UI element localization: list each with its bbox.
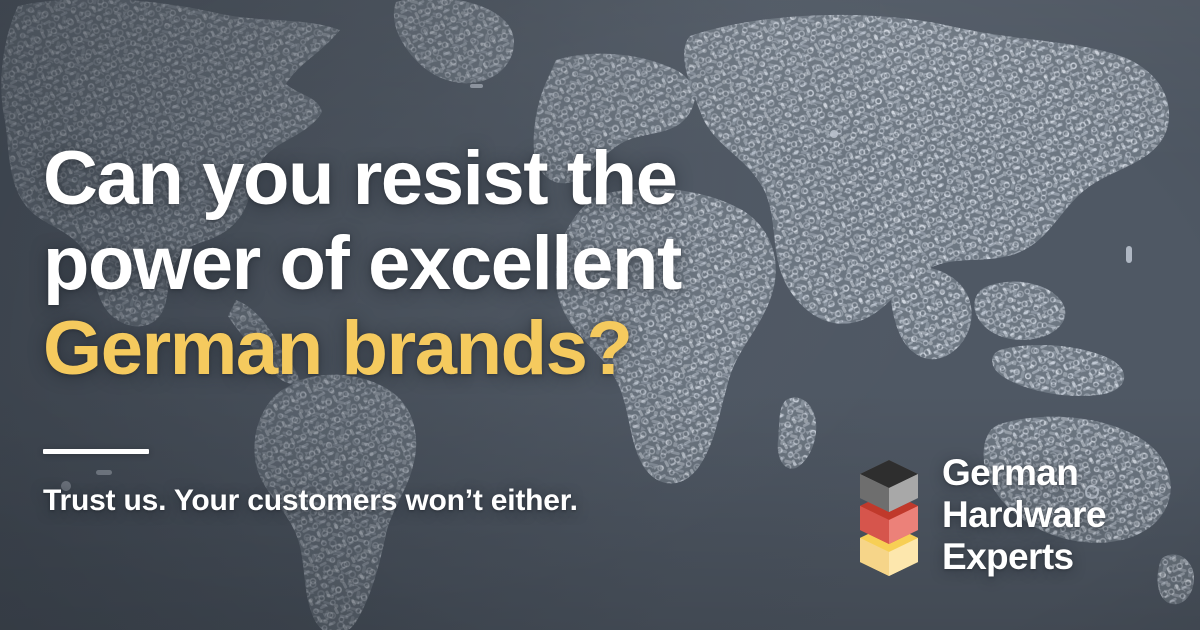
headline-line-3-accent: German brands? [43,306,632,391]
divider-rule [43,449,149,454]
subheadline: Trust us. Your customers won’t either. [43,484,578,518]
promo-banner: Can you resist the power of excellent Ge… [0,0,1200,630]
headline-line-2: power of excellent [43,221,681,306]
headline-line-1: Can you resist the [43,136,677,221]
logo-line-german: German [942,452,1106,494]
logo-line-experts: Experts [942,536,1106,578]
brand-logo[interactable]: German Hardware Experts [858,452,1106,578]
logo-wordmark: German Hardware Experts [942,452,1106,578]
headline: Can you resist the power of excellent Ge… [43,136,843,391]
copy-block: Can you resist the power of excellent Ge… [43,136,843,391]
logo-line-hardware: Hardware [942,494,1106,536]
stacked-cubes-logo-icon [858,452,920,576]
